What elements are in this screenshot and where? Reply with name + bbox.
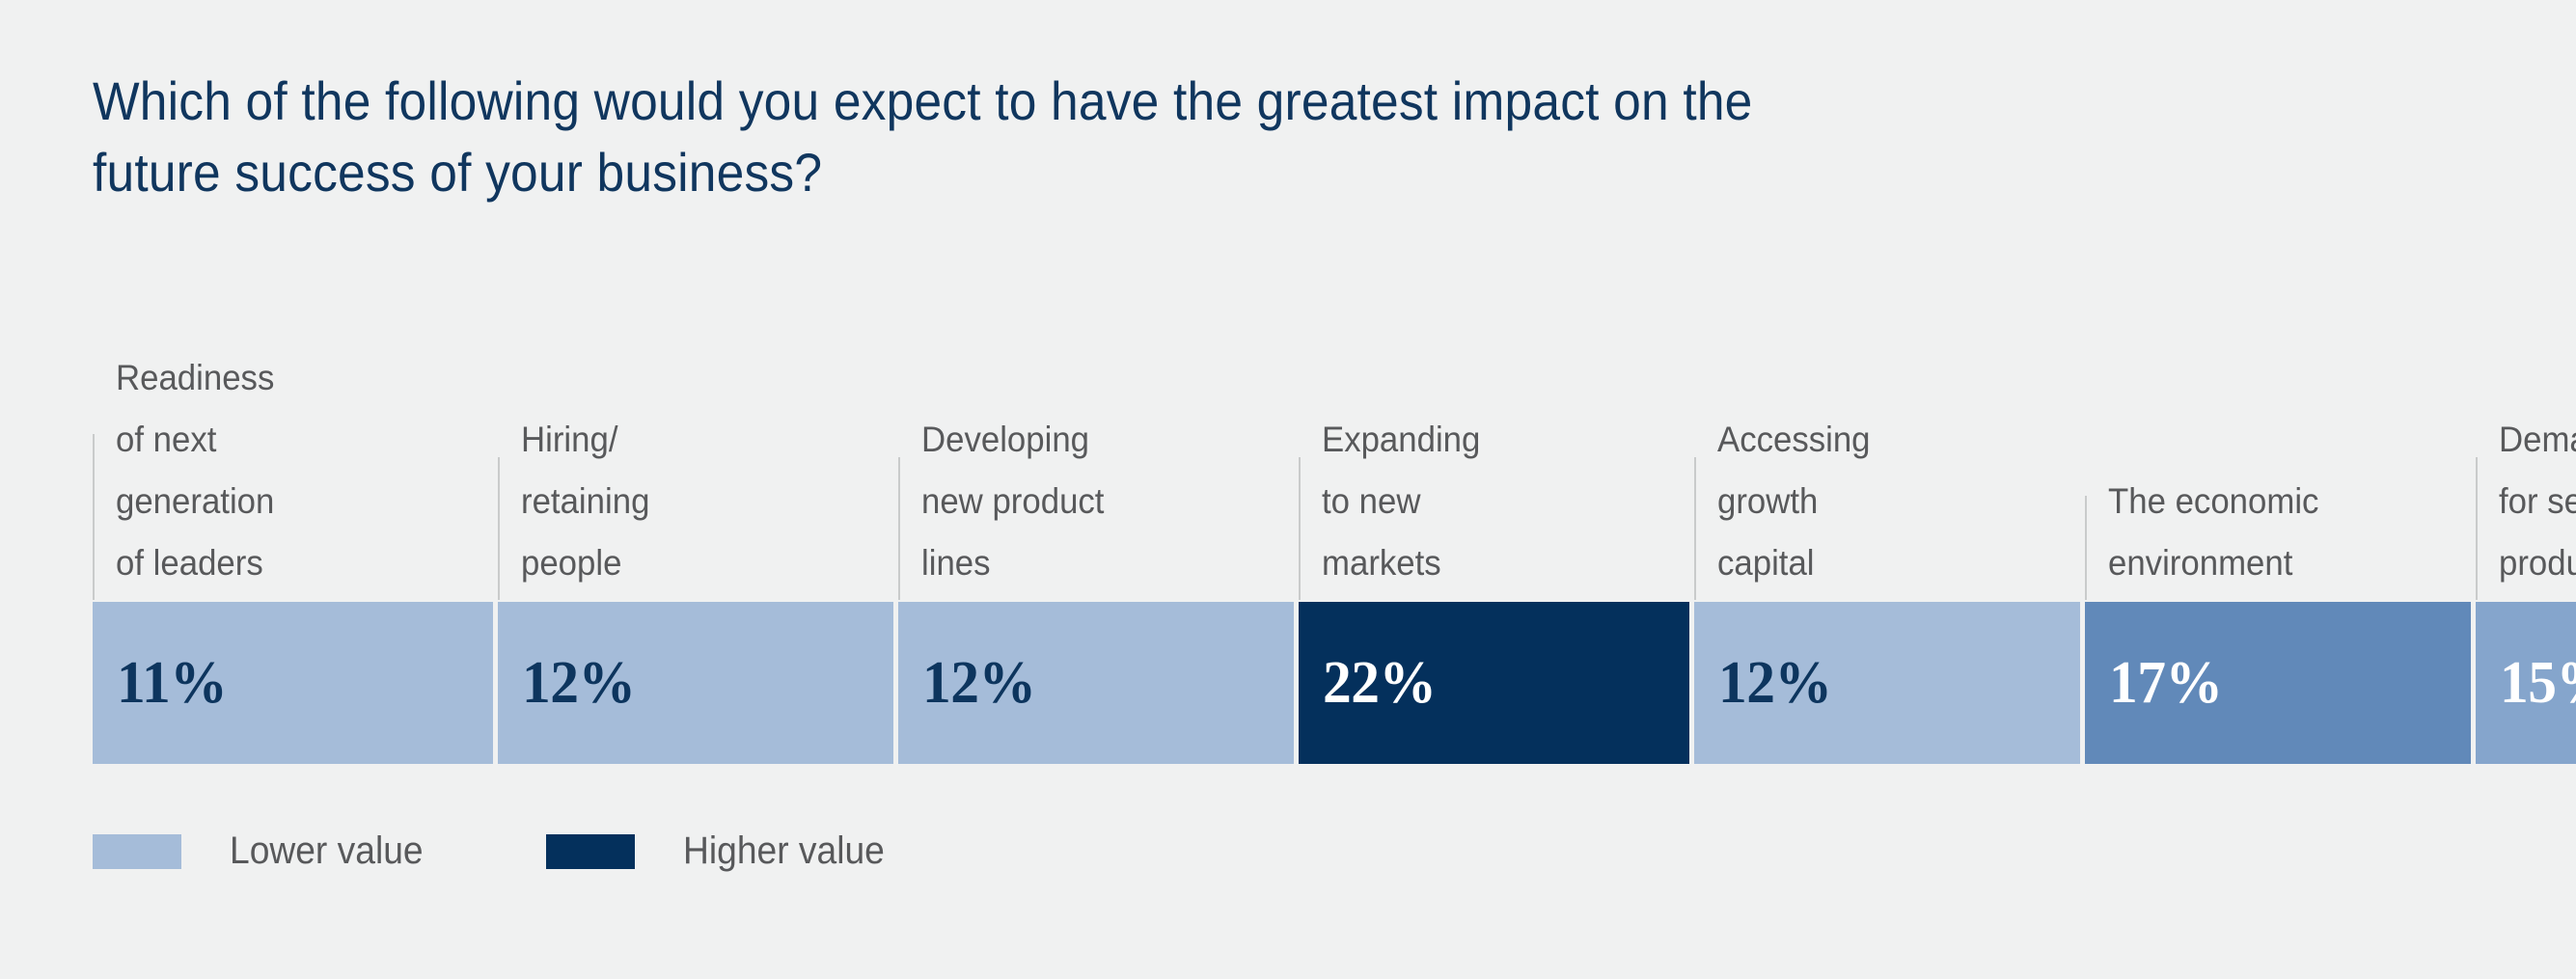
legend-swatch-lower	[93, 834, 181, 869]
bar-cell-5[interactable]: 17%	[2085, 602, 2471, 764]
legend-item-higher: Higher value	[546, 829, 900, 873]
column-header-1: Hiring/ retaining people	[498, 320, 898, 600]
column-header-6: Demand for service/ product	[2476, 320, 2576, 600]
bar-cell-6[interactable]: 15%	[2476, 602, 2576, 764]
chart-legend: Lower value Higher value	[93, 829, 1007, 873]
bar-cell-2[interactable]: 12%	[898, 602, 1294, 764]
legend-label-higher: Higher value	[683, 829, 885, 873]
column-header-4: Accessing growth capital	[1694, 320, 2085, 600]
column-header-0: Readiness of next generation of leaders	[93, 320, 498, 600]
column-divider-5	[2085, 496, 2087, 600]
bar-value-0: 11%	[93, 649, 227, 718]
bar-value-2: 12%	[898, 649, 1036, 718]
column-divider-4	[1694, 457, 1696, 600]
page-title-line-2: future success of your business?	[93, 137, 1957, 208]
chart-page: Which of the following would you expect …	[0, 0, 2576, 979]
legend-item-lower: Lower value	[93, 829, 438, 873]
column-header-label-4: Accessing growth capital	[1717, 409, 1871, 600]
legend-label-lower: Lower value	[230, 829, 424, 873]
page-title-line-1: Which of the following would you expect …	[93, 66, 1957, 137]
chart-bar-row: 11% 12% 12% 22% 12% 17% 15%	[93, 602, 2476, 764]
bar-cell-3[interactable]: 22%	[1299, 602, 1689, 764]
page-title: Which of the following would you expect …	[93, 66, 2119, 208]
bar-cell-0[interactable]: 11%	[93, 602, 493, 764]
column-divider-1	[498, 457, 500, 600]
survey-bar-chart: Readiness of next generation of leaders …	[93, 320, 2476, 764]
column-header-5: The economic environment	[2085, 320, 2476, 600]
bar-cell-1[interactable]: 12%	[498, 602, 893, 764]
bar-value-4: 12%	[1694, 649, 1832, 718]
column-header-label-3: Expanding to new markets	[1322, 409, 1480, 600]
column-divider-3	[1299, 457, 1301, 600]
column-header-label-2: Developing new product lines	[921, 409, 1104, 600]
column-divider-6	[2476, 457, 2478, 600]
bar-value-5: 17%	[2085, 649, 2223, 718]
column-header-label-1: Hiring/ retaining people	[521, 409, 649, 600]
chart-header-row: Readiness of next generation of leaders …	[93, 320, 2476, 600]
bar-value-3: 22%	[1299, 649, 1437, 718]
column-divider-2	[898, 457, 900, 600]
column-header-2: Developing new product lines	[898, 320, 1299, 600]
column-header-3: Expanding to new markets	[1299, 320, 1694, 600]
column-header-label-5: The economic environment	[2108, 471, 2318, 600]
column-header-label-0: Readiness of next generation of leaders	[116, 347, 274, 600]
bar-cell-4[interactable]: 12%	[1694, 602, 2080, 764]
column-header-label-6: Demand for service/ product	[2499, 409, 2576, 600]
bar-value-6: 15%	[2476, 649, 2576, 718]
column-divider-0	[93, 434, 95, 600]
legend-swatch-higher	[546, 834, 635, 869]
bar-value-1: 12%	[498, 649, 636, 718]
